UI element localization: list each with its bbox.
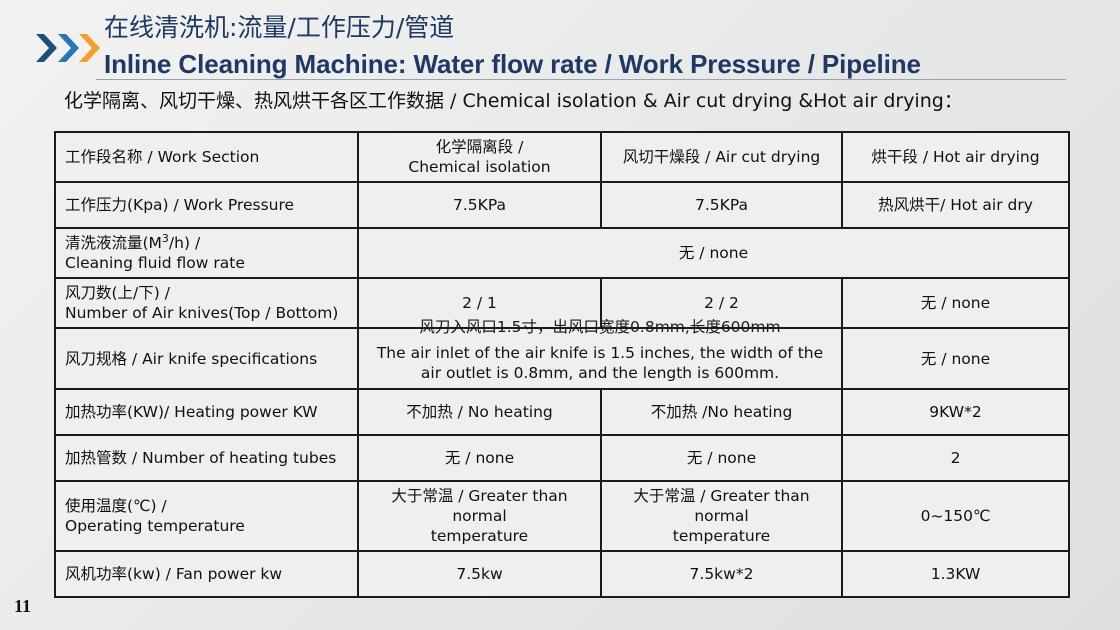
row-label-operating-temp-line1: 使用温度(℃) /	[65, 496, 349, 516]
row-label-cleaning-fluid-line2: Cleaning fluid flow rate	[65, 253, 349, 273]
cell-work-pressure-aircut: 7.5KPa	[601, 182, 842, 228]
table-row: 加热管数 / Number of heating tubes 无 / none …	[55, 435, 1069, 481]
cell-cleaning-fluid-flow-merged: 无 / none	[358, 228, 1069, 278]
cell-heating-power-chemical: 不加热 / No heating	[358, 389, 601, 435]
cell-air-knife-spec-chinese: 风刀入风口1.5寸，出风口宽度0.8mm,长度600mm	[359, 317, 841, 337]
cell-operating-temp-aircut-line2: temperature	[610, 526, 833, 546]
header-cell-chemical-isolation: 化学隔离段 / Chemical isolation	[358, 132, 601, 182]
cell-work-pressure-chemical: 7.5KPa	[358, 182, 601, 228]
row-label-fan-power: 风机功率(kw) / Fan power kw	[55, 551, 358, 597]
cell-work-pressure-hotair: 热风烘干/ Hot air dry	[842, 182, 1069, 228]
row-label-cleaning-fluid-flow-rate: 清洗液流量(M3/h) / Cleaning fluid flow rate	[55, 228, 358, 278]
table-header-row: 工作段名称 / Work Section 化学隔离段 / Chemical is…	[55, 132, 1069, 182]
cell-operating-temp-chemical-line1: 大于常温 / Greater than normal	[367, 486, 592, 526]
cell-operating-temp-hotair: 0~150℃	[842, 481, 1069, 551]
cell-operating-temp-chemical-line2: temperature	[367, 526, 592, 546]
cell-operating-temp-chemical: 大于常温 / Greater than normal temperature	[358, 481, 601, 551]
cell-heating-tubes-chemical: 无 / none	[358, 435, 601, 481]
row-label-operating-temp-line2: Operating temperature	[65, 516, 349, 536]
row-label-air-knives-line1: 风刀数(上/下) /	[65, 283, 349, 303]
page-title-chinese: 在线清洗机:流量/工作压力/管道	[104, 13, 454, 43]
slide-header: 在线清洗机:流量/工作压力/管道 Inline Cleaning Machine…	[0, 0, 1120, 120]
page-subtitle: 化学隔离、风切干燥、热风烘干各区工作数据 / Chemical isolatio…	[64, 88, 963, 114]
table-row: 工作压力(Kpa) / Work Pressure 7.5KPa 7.5KPa …	[55, 182, 1069, 228]
cell-heating-power-hotair: 9KW*2	[842, 389, 1069, 435]
table-row: 使用温度(℃) / Operating temperature 大于常温 / G…	[55, 481, 1069, 551]
row-label-number-of-air-knives: 风刀数(上/下) / Number of Air knives(Top / Bo…	[55, 278, 358, 328]
cell-air-knife-spec-hotair: 无 / none	[842, 328, 1069, 389]
title-divider	[96, 79, 1066, 80]
row-label-work-pressure: 工作压力(Kpa) / Work Pressure	[55, 182, 358, 228]
row-label-number-of-heating-tubes: 加热管数 / Number of heating tubes	[55, 435, 358, 481]
spec-table-container: 工作段名称 / Work Section 化学隔离段 / Chemical is…	[54, 131, 1068, 598]
header-cell-hot-air-drying: 烘干段 / Hot air drying	[842, 132, 1069, 182]
cell-air-knives-hotair: 无 / none	[842, 278, 1069, 328]
cell-fan-power-hotair: 1.3KW	[842, 551, 1069, 597]
triple-chevron-right-icon	[34, 31, 100, 65]
header-cell-chemical-isolation-line1: 化学隔离段 /	[367, 137, 592, 157]
row-label-operating-temperature: 使用温度(℃) / Operating temperature	[55, 481, 358, 551]
cell-fan-power-aircut: 7.5kw*2	[601, 551, 842, 597]
header-cell-air-cut-drying: 风切干燥段 / Air cut drying	[601, 132, 842, 182]
row-label-cleaning-fluid-line1: 清洗液流量(M3/h) /	[65, 233, 349, 253]
cell-operating-temp-aircut: 大于常温 / Greater than normal temperature	[601, 481, 842, 551]
cell-fan-power-chemical: 7.5kw	[358, 551, 601, 597]
table-row: 清洗液流量(M3/h) / Cleaning fluid flow rate 无…	[55, 228, 1069, 278]
table-row: 风机功率(kw) / Fan power kw 7.5kw 7.5kw*2 1.…	[55, 551, 1069, 597]
cell-air-knife-specifications-merged: 风刀入风口1.5寸，出风口宽度0.8mm,长度600mm The air inl…	[358, 328, 842, 389]
spec-table: 工作段名称 / Work Section 化学隔离段 / Chemical is…	[54, 131, 1070, 598]
page-title-english: Inline Cleaning Machine: Water flow rate…	[104, 48, 921, 80]
cell-heating-tubes-hotair: 2	[842, 435, 1069, 481]
header-cell-work-section: 工作段名称 / Work Section	[55, 132, 358, 182]
cell-air-knife-spec-english: The air inlet of the air knife is 1.5 in…	[367, 334, 833, 383]
header-cell-chemical-isolation-line2: Chemical isolation	[367, 157, 592, 177]
row-label-heating-power: 加热功率(KW)/ Heating power KW	[55, 389, 358, 435]
cell-heating-power-aircut: 不加热 /No heating	[601, 389, 842, 435]
table-row: 风刀规格 / Air knife specifications 风刀入风口1.5…	[55, 328, 1069, 389]
cell-heating-tubes-aircut: 无 / none	[601, 435, 842, 481]
table-row: 加热功率(KW)/ Heating power KW 不加热 / No heat…	[55, 389, 1069, 435]
page-number: 11	[14, 596, 31, 617]
row-label-air-knife-specifications: 风刀规格 / Air knife specifications	[55, 328, 358, 389]
row-label-air-knives-line2: Number of Air knives(Top / Bottom)	[65, 303, 349, 323]
cell-operating-temp-aircut-line1: 大于常温 / Greater than normal	[610, 486, 833, 526]
